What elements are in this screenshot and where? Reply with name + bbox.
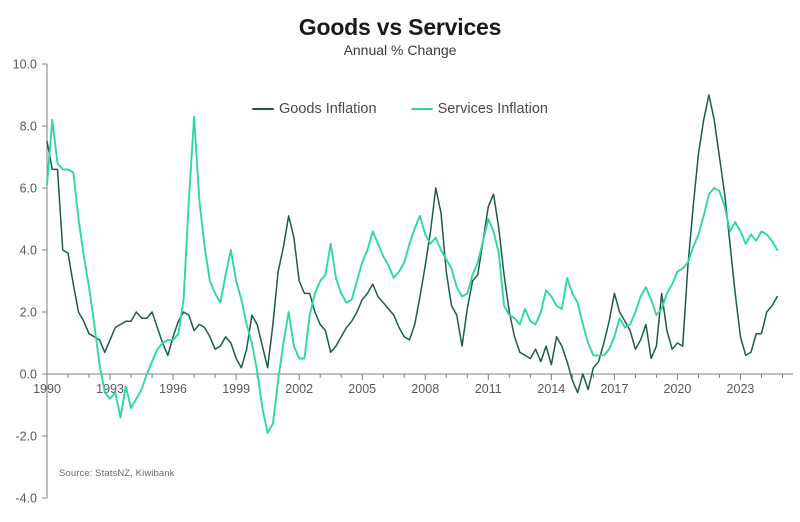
chart-container: Goods vs Services Annual % Change Goods …: [0, 0, 800, 522]
x-tick-label: 1993: [96, 382, 124, 396]
y-tick-label: 10.0: [13, 58, 37, 72]
y-tick-label: -2.0: [15, 430, 37, 444]
x-tick-label: 2011: [475, 382, 502, 396]
y-axis: 10.08.06.04.02.00.0-2.0-4.0: [13, 58, 47, 506]
y-tick-label: 4.0: [20, 244, 37, 258]
x-tick-label: 1999: [222, 382, 250, 396]
x-tick-label: 2008: [411, 382, 439, 396]
plot-area: 10.08.06.04.02.00.0-2.0-4.0 199019931996…: [0, 0, 800, 522]
y-tick-label: 8.0: [20, 120, 37, 134]
x-tick-label: 2005: [348, 382, 376, 396]
series-line-goods-inflation: [47, 95, 777, 393]
x-tick-label: 2017: [600, 382, 628, 396]
y-tick-label: 6.0: [20, 182, 37, 196]
y-tick-label: 0.0: [20, 368, 37, 382]
x-tick-label: 2023: [727, 382, 755, 396]
x-tick-label: 2002: [285, 382, 313, 396]
source-note: Source: StatsNZ, Kiwibank: [59, 468, 175, 479]
x-tick-label: 2014: [537, 382, 565, 396]
y-tick-label: 2.0: [20, 306, 37, 320]
x-axis: 1990199319961999200220052008201120142017…: [33, 374, 793, 396]
x-tick-label: 2020: [664, 382, 692, 396]
x-tick-label: 1990: [33, 382, 61, 396]
y-tick-label: -4.0: [15, 492, 37, 506]
x-tick-label: 1996: [159, 382, 187, 396]
